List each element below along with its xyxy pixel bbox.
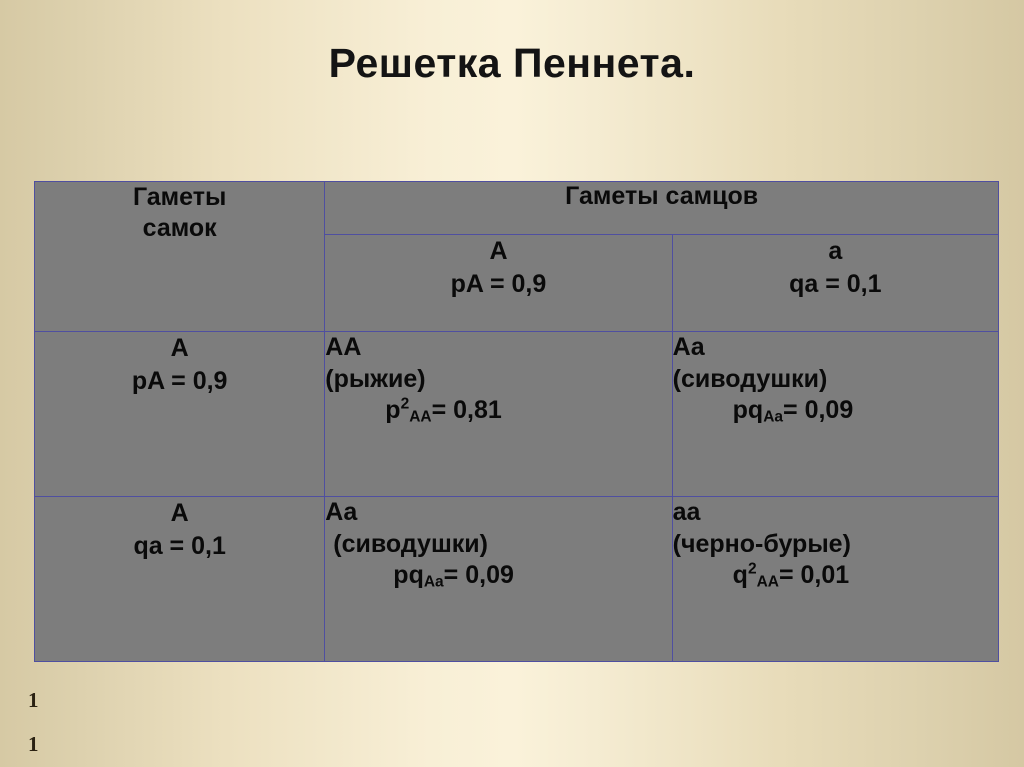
phenotype-label: (черно-бурые)	[673, 529, 998, 561]
formula-superscript: 2	[748, 561, 757, 578]
formula-base: q	[733, 561, 748, 589]
genotype-cell-AA: AA (рыжие) p2AA= 0,81	[325, 332, 672, 497]
genotype-cell-Aa-top: Aa (сиводушки) pqAa= 0,09	[672, 332, 998, 497]
genotype-label: aa	[673, 497, 998, 529]
formula-value: = 0,81	[432, 396, 502, 424]
table-row: A qa = 0,1 Aa (сиводушки) pqAa= 0,09 aa …	[35, 497, 999, 662]
formula-subscript: Aa	[763, 408, 783, 425]
row-allele-symbol: A	[35, 497, 324, 530]
formula-value: = 0,09	[783, 396, 853, 424]
footer-markers: 1 1	[28, 678, 39, 766]
genotype-label: Aa	[325, 497, 671, 529]
table-row: A pA = 0,9 AA (рыжие) p2AA= 0,81 Aa (сив…	[35, 332, 999, 497]
table-header-row-top: Гаметы самок Гаметы самцов	[35, 182, 999, 235]
frequency-formula: p2AA= 0,81	[325, 395, 671, 427]
column-allele-symbol: A	[325, 235, 671, 268]
row-header-allele-A: A pA = 0,9	[35, 332, 325, 497]
corner-label-line2: самок	[143, 214, 217, 242]
genotype-label: AA	[325, 332, 671, 364]
column-allele-frequency: qa = 0,1	[673, 268, 998, 301]
row-allele-frequency: qa = 0,1	[35, 530, 324, 563]
formula-base: p	[385, 396, 400, 424]
formula-base: pq	[393, 561, 424, 589]
formula-subscript: Aa	[424, 573, 444, 590]
corner-cell-female-gametes: Гаметы самок	[35, 182, 325, 332]
page-title: Решетка Пеннета.	[0, 40, 1024, 87]
genotype-label: Aa	[673, 332, 998, 364]
formula-value: = 0,01	[779, 561, 849, 589]
formula-subscript: AA	[757, 573, 779, 590]
genotype-cell-aa: aa (черно-бурые) q2AA= 0,01	[672, 497, 998, 662]
phenotype-label: (сиводушки)	[325, 529, 671, 561]
corner-label-line1: Гаметы	[133, 183, 226, 211]
footer-marker-second: 1	[28, 722, 39, 766]
punnett-square-table: Гаметы самок Гаметы самцов A pA = 0,9 a …	[34, 181, 999, 662]
phenotype-label: (рыжие)	[325, 364, 671, 396]
formula-base: pq	[733, 396, 764, 424]
row-header-allele-a: A qa = 0,1	[35, 497, 325, 662]
frequency-formula: q2AA= 0,01	[673, 560, 998, 592]
formula-value: = 0,09	[444, 561, 514, 589]
formula-superscript: 2	[401, 396, 410, 413]
frequency-formula: pqAa= 0,09	[673, 395, 998, 427]
column-header-allele-A: A pA = 0,9	[325, 235, 672, 332]
column-header-allele-a: a qa = 0,1	[672, 235, 998, 332]
formula-subscript: AA	[409, 408, 431, 425]
column-allele-frequency: pA = 0,9	[325, 268, 671, 301]
row-allele-symbol: A	[35, 332, 324, 365]
row-allele-frequency: pA = 0,9	[35, 365, 324, 398]
genotype-cell-Aa-bottom: Aa (сиводушки) pqAa= 0,09	[325, 497, 672, 662]
footer-marker-first: 1	[28, 678, 39, 722]
male-gametes-header: Гаметы самцов	[325, 182, 999, 235]
column-allele-symbol: a	[673, 235, 998, 268]
phenotype-label: (сиводушки)	[673, 364, 998, 396]
frequency-formula: pqAa= 0,09	[325, 560, 671, 592]
